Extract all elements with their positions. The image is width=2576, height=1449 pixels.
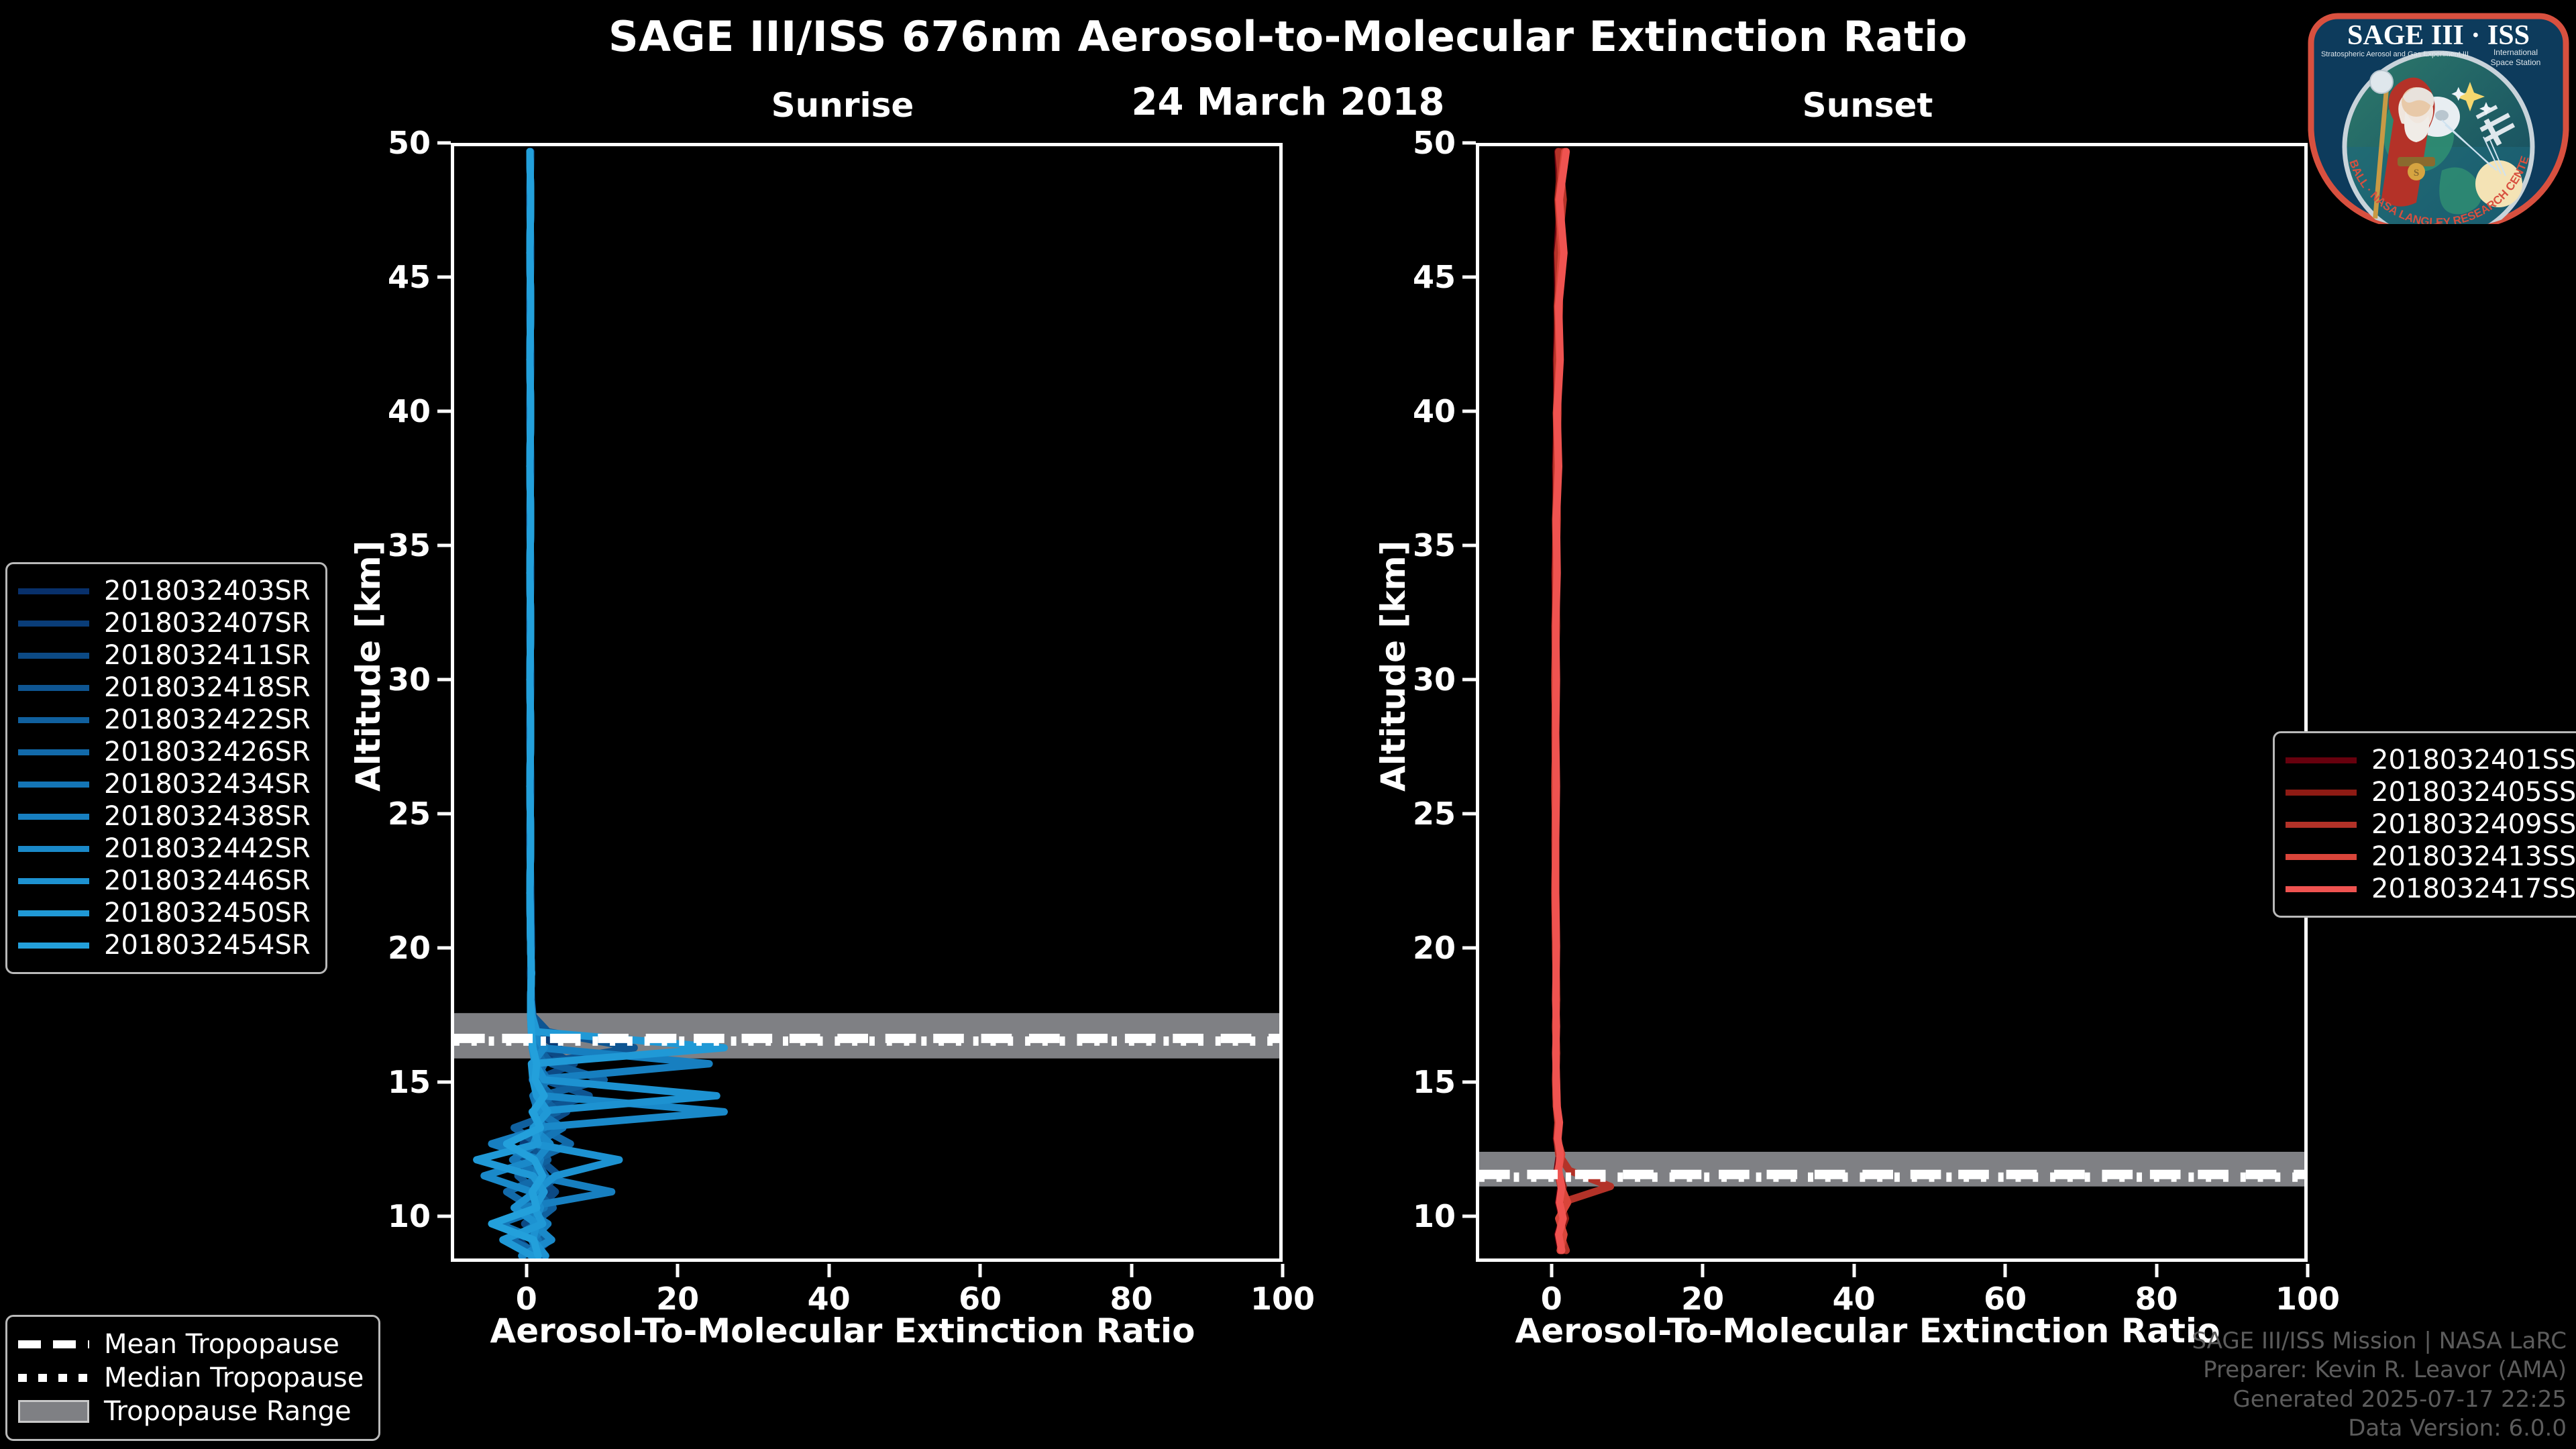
legend-label: 2018032405SS — [2371, 777, 2576, 808]
legend-label-tropopause-range: Tropopause Range — [104, 1396, 352, 1427]
legend-item-2018032401SS[interactable]: 2018032401SS — [2286, 744, 2576, 776]
y-axis-tick-mark — [1462, 1215, 1476, 1218]
x-axis-tick-label: 80 — [2090, 1281, 2224, 1317]
y-axis-tick-label: 45 — [330, 259, 431, 295]
legend-color-swatch — [18, 814, 89, 820]
legend-color-swatch — [18, 749, 89, 755]
logo-subtitle-right-2: Space Station — [2491, 58, 2541, 67]
legend-label: 2018032426SR — [104, 737, 311, 767]
y-axis-tick-label: 25 — [330, 796, 431, 832]
y-axis-tick-mark — [437, 1215, 451, 1218]
y-axis-tick-label: 30 — [1355, 661, 1456, 698]
y-axis-tick-label: 40 — [1355, 393, 1456, 429]
sage-iii-iss-logo-icon: S SAGE III · ISS Stratospheric Aerosol a… — [2308, 3, 2569, 224]
y-axis-tick-mark — [1462, 678, 1476, 682]
legend-item-tropopause-range: Tropopause Range — [18, 1395, 364, 1428]
sunrise-legend[interactable]: 2018032403SR2018032407SR2018032411SR2018… — [5, 562, 327, 974]
x-axis-tick-mark — [1281, 1264, 1285, 1277]
legend-item-2018032450SR[interactable]: 2018032450SR — [18, 897, 311, 929]
y-axis-tick-label: 35 — [1355, 527, 1456, 563]
y-axis-tick-label: 30 — [330, 661, 431, 698]
legend-item-2018032426SR[interactable]: 2018032426SR — [18, 736, 311, 768]
y-axis-tick-label: 15 — [330, 1064, 431, 1100]
dashed-line-icon — [18, 1340, 89, 1348]
legend-color-swatch — [2286, 822, 2357, 828]
x-axis-tick-label: 60 — [913, 1281, 1047, 1317]
filled-band-icon — [18, 1400, 89, 1423]
legend-item-2018032413SS[interactable]: 2018032413SS — [2286, 841, 2576, 873]
credit-generated: Generated 2025-07-17 22:25 — [2192, 1385, 2567, 1415]
legend-label: 2018032454SR — [104, 930, 311, 961]
legend-item-2018032409SS[interactable]: 2018032409SS — [2286, 808, 2576, 841]
y-axis-tick-label: 20 — [330, 930, 431, 966]
credit-mission: SAGE III/ISS Mission | NASA LaRC — [2192, 1327, 2567, 1356]
y-axis-tick-label: 20 — [1355, 930, 1456, 966]
legend-color-swatch — [2286, 790, 2357, 796]
legend-label: 2018032442SR — [104, 833, 311, 864]
y-axis-tick-label: 10 — [1355, 1198, 1456, 1234]
y-axis-tick-mark — [437, 276, 451, 279]
x-axis-tick-mark — [1852, 1264, 1856, 1277]
legend-label: 2018032418SR — [104, 672, 311, 703]
x-axis-tick-mark — [2306, 1264, 2310, 1277]
legend-label: 2018032434SR — [104, 769, 311, 800]
y-axis-tick-mark — [1462, 1081, 1476, 1084]
x-axis-tick-label: 100 — [1216, 1281, 1350, 1317]
legend-label: 2018032417SS — [2371, 873, 2576, 904]
svg-text:S: S — [2414, 168, 2419, 178]
legend-label: 2018032438SR — [104, 801, 311, 832]
data-series-line — [1555, 152, 1611, 1250]
y-axis-tick-label: 50 — [330, 125, 431, 161]
legend-color-swatch — [2286, 886, 2357, 892]
y-axis-tick-mark — [1462, 142, 1476, 145]
legend-color-swatch — [18, 653, 89, 659]
y-axis-tick-mark — [1462, 812, 1476, 816]
x-axis-tick-mark — [1550, 1264, 1553, 1277]
legend-item-2018032407SR[interactable]: 2018032407SR — [18, 607, 311, 639]
sunrise-plot-area — [451, 143, 1283, 1262]
logo-subtitle-left: Stratospheric Aerosol and Gas Experiment… — [2321, 50, 2469, 58]
y-axis-tick-label: 10 — [330, 1198, 431, 1234]
legend-label: 2018032407SR — [104, 608, 311, 639]
sunset-panel-title: Sunset — [1428, 86, 2308, 125]
legend-item-2018032405SS[interactable]: 2018032405SS — [2286, 776, 2576, 808]
legend-item-2018032446SR[interactable]: 2018032446SR — [18, 865, 311, 897]
x-axis-tick-label: 0 — [460, 1281, 594, 1317]
credit-preparer: Preparer: Kevin R. Leavor (AMA) — [2192, 1356, 2567, 1385]
x-axis-tick-mark — [525, 1264, 528, 1277]
sunset-plot-area — [1476, 143, 2308, 1262]
y-axis-tick-mark — [1462, 276, 1476, 279]
y-axis-tick-mark — [437, 410, 451, 413]
x-axis-tick-mark — [2004, 1264, 2007, 1277]
x-axis-tick-mark — [1701, 1264, 1705, 1277]
credits-block: SAGE III/ISS Mission | NASA LaRC Prepare… — [2192, 1327, 2567, 1444]
legend-label: 2018032409SS — [2371, 809, 2576, 840]
legend-color-swatch — [18, 588, 89, 594]
x-axis-tick-mark — [2155, 1264, 2158, 1277]
x-axis-tick-mark — [827, 1264, 830, 1277]
legend-item-2018032454SR[interactable]: 2018032454SR — [18, 929, 311, 961]
y-axis-tick-mark — [437, 947, 451, 950]
sunrise-panel-title: Sunrise — [402, 86, 1283, 125]
legend-label: 2018032411SR — [104, 640, 311, 671]
y-axis-tick-label: 15 — [1355, 1064, 1456, 1100]
sunset-legend[interactable]: 2018032401SS2018032405SS2018032409SS2018… — [2273, 731, 2576, 918]
legend-color-swatch — [18, 782, 89, 788]
legend-label-median-tropopause: Median Tropopause — [104, 1362, 364, 1393]
y-axis-tick-mark — [437, 812, 451, 816]
legend-color-swatch — [18, 621, 89, 627]
y-axis-tick-mark — [1462, 544, 1476, 547]
y-axis-tick-mark — [437, 1081, 451, 1084]
legend-color-swatch — [18, 910, 89, 916]
sunrise-x-axis-label: Aerosol-To-Molecular Extinction Ratio — [402, 1311, 1283, 1350]
legend-label: 2018032450SR — [104, 898, 311, 928]
tropopause-legend: Mean Tropopause Median Tropopause Tropop… — [5, 1315, 380, 1441]
legend-color-swatch — [2286, 854, 2357, 860]
page-title: SAGE III/ISS 676nm Aerosol-to-Molecular … — [0, 12, 2576, 61]
y-axis-tick-label: 40 — [330, 393, 431, 429]
x-axis-tick-label: 40 — [1787, 1281, 1921, 1317]
logo-subtitle-right-1: International — [2493, 48, 2538, 57]
legend-item-median-tropopause: Median Tropopause — [18, 1361, 364, 1395]
x-axis-tick-label: 100 — [2241, 1281, 2375, 1317]
legend-color-swatch — [18, 943, 89, 949]
legend-label: 2018032401SS — [2371, 745, 2576, 775]
legend-label: 2018032446SR — [104, 865, 311, 896]
legend-color-swatch — [18, 846, 89, 852]
x-axis-tick-mark — [676, 1264, 680, 1277]
legend-item-2018032417SS[interactable]: 2018032417SS — [2286, 873, 2576, 905]
legend-item-2018032403SR[interactable]: 2018032403SR — [18, 575, 311, 607]
y-axis-tick-label: 35 — [330, 527, 431, 563]
x-axis-tick-label: 20 — [610, 1281, 745, 1317]
y-axis-tick-label: 25 — [1355, 796, 1456, 832]
x-axis-tick-label: 20 — [1635, 1281, 1770, 1317]
legend-label: 2018032413SS — [2371, 841, 2576, 872]
legend-label: 2018032403SR — [104, 576, 311, 606]
y-axis-tick-mark — [1462, 947, 1476, 950]
y-axis-tick-label: 45 — [1355, 259, 1456, 295]
logo-title: SAGE III · ISS — [2347, 20, 2530, 51]
legend-item-2018032438SR[interactable]: 2018032438SR — [18, 800, 311, 833]
credit-data-version: Data Version: 6.0.0 — [2192, 1414, 2567, 1444]
legend-color-swatch — [18, 878, 89, 884]
x-axis-tick-mark — [979, 1264, 982, 1277]
x-axis-tick-label: 60 — [1938, 1281, 2072, 1317]
data-series-line — [1556, 152, 1566, 1250]
legend-color-swatch — [18, 685, 89, 691]
legend-label: 2018032422SR — [104, 704, 311, 735]
y-axis-tick-mark — [1462, 410, 1476, 413]
legend-item-2018032411SR[interactable]: 2018032411SR — [18, 639, 311, 672]
dotted-line-icon — [18, 1374, 89, 1382]
x-axis-tick-label: 0 — [1485, 1281, 1619, 1317]
legend-item-2018032442SR[interactable]: 2018032442SR — [18, 833, 311, 865]
legend-item-2018032434SR[interactable]: 2018032434SR — [18, 768, 311, 800]
legend-item-2018032422SR[interactable]: 2018032422SR — [18, 704, 311, 736]
sunset-x-axis-label: Aerosol-To-Molecular Extinction Ratio — [1428, 1311, 2308, 1350]
y-axis-tick-mark — [437, 678, 451, 682]
legend-item-2018032418SR[interactable]: 2018032418SR — [18, 672, 311, 704]
y-axis-tick-mark — [437, 142, 451, 145]
y-axis-tick-label: 50 — [1355, 125, 1456, 161]
y-axis-tick-mark — [437, 544, 451, 547]
legend-color-swatch — [2286, 757, 2357, 763]
x-axis-tick-label: 40 — [762, 1281, 896, 1317]
legend-item-mean-tropopause: Mean Tropopause — [18, 1328, 364, 1361]
legend-label-mean-tropopause: Mean Tropopause — [104, 1329, 339, 1360]
x-axis-tick-label: 80 — [1065, 1281, 1199, 1317]
x-axis-tick-mark — [1130, 1264, 1133, 1277]
legend-color-swatch — [18, 717, 89, 723]
